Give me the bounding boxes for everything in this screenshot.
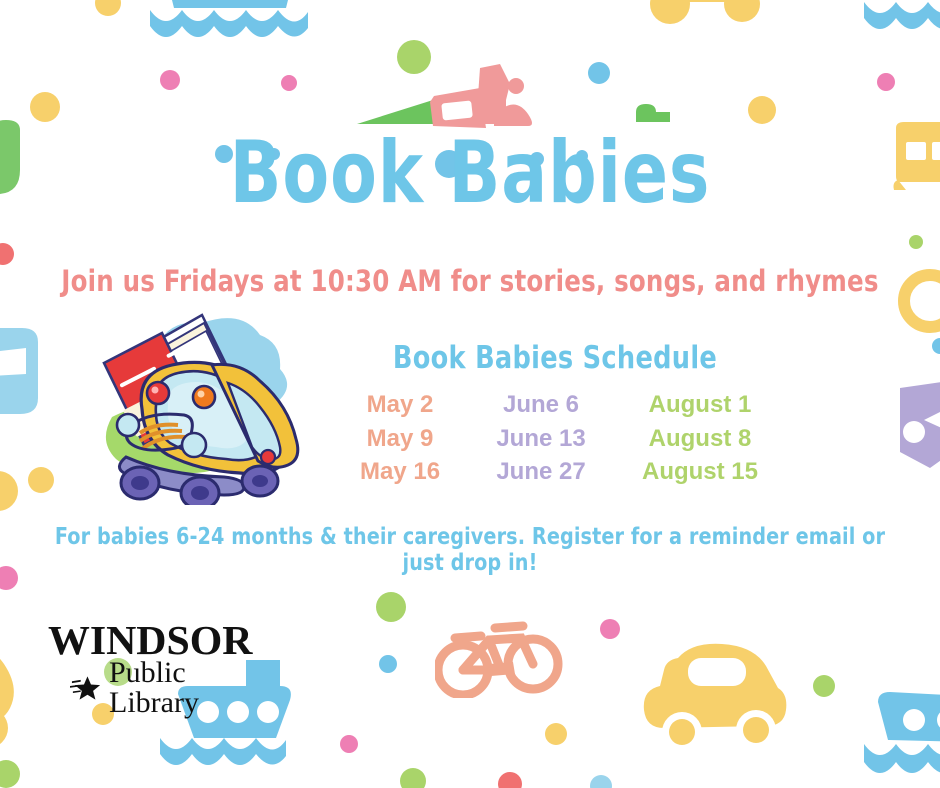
logo-sub-row: Public Library (70, 658, 278, 718)
schedule-date: June 27 (496, 457, 585, 488)
star-icon (70, 675, 103, 701)
schedule-column-may: May 2 May 9 May 16 (360, 390, 440, 488)
schedule-column-june: June 6 June 13 June 27 (496, 390, 585, 488)
schedule-date: June 13 (496, 424, 585, 455)
schedule-date: August 1 (642, 390, 758, 421)
footnote-text: For babies 6-24 months & their caregiver… (33, 524, 907, 576)
schedule-heading: Book Babies Schedule (348, 340, 762, 376)
schedule-date: May 16 (360, 457, 440, 488)
schedule-block: Book Babies Schedule May 2 May 9 May 16 … (330, 340, 780, 488)
schedule-date: May 2 (360, 390, 440, 421)
logo-wordmark-public-library: Public Library (109, 658, 278, 718)
poster-canvas: Book Babies Join us Fridays at 10:30 AM … (0, 0, 940, 788)
schedule-grid: May 2 May 9 May 16 June 6 June 13 June 2… (330, 390, 780, 488)
logo-wordmark-windsor: WINDSOR (48, 620, 283, 661)
page-title: Book Babies (56, 130, 883, 216)
library-logo: WINDSOR Public Library (48, 620, 278, 690)
poster-content: Book Babies Join us Fridays at 10:30 AM … (0, 0, 940, 788)
schedule-column-august: August 1 August 8 August 15 (642, 390, 758, 488)
schedule-date: August 8 (642, 424, 758, 455)
schedule-date: June 6 (496, 390, 585, 421)
subtitle-text: Join us Fridays at 10:30 AM for stories,… (28, 264, 912, 298)
schedule-date: May 9 (360, 424, 440, 455)
schedule-date: August 15 (642, 457, 758, 488)
